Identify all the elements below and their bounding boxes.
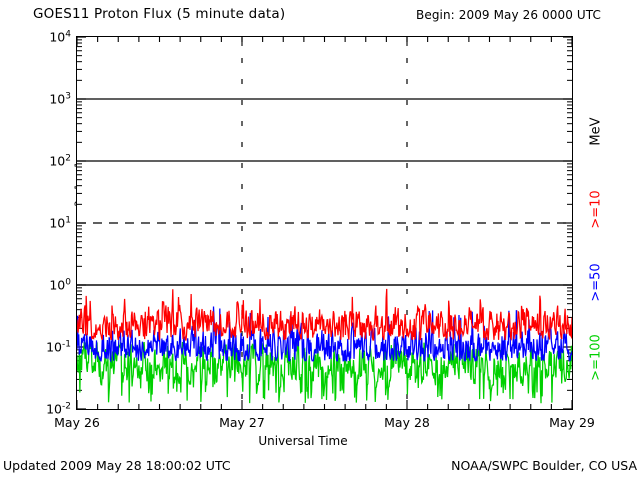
y-tick-exponent: 3 [65,91,71,101]
y-tick-label: 100 [49,277,71,292]
page-title: GOES11 Proton Flux (5 minute data) [33,6,285,22]
updated-timestamp: Updated 2009 May 28 18:00:02 UTC [3,458,231,473]
x-tick-label: May 27 [219,415,265,430]
y-tick-mantissa: 10 [49,92,65,107]
legend-units-mev: MeV [589,102,604,162]
source-attribution: NOAA/SWPC Boulder, CO USA [451,458,637,473]
y-tick-mantissa: 10 [49,216,65,231]
y-tick-label: 102 [49,153,71,168]
y-tick-label: 103 [49,91,71,106]
y-axis-tick-labels: 10410310210110010-110-2 [22,36,71,410]
y-tick-mantissa: 10 [49,278,65,293]
y-tick-mantissa: 10 [49,154,65,169]
x-tick-label: May 28 [384,415,430,430]
legend-item-ge50: >=50 [589,249,604,317]
y-tick-mantissa: 10 [46,340,62,355]
y-tick-exponent: 1 [65,215,71,225]
y-tick-exponent: -1 [62,339,71,349]
y-tick-label: 101 [49,215,71,230]
x-tick-label: May 29 [549,415,595,430]
x-tick-label: May 26 [54,415,100,430]
x-axis-title-text: Universal Time [258,434,347,448]
legend-item-ge10: >=10 [589,176,604,244]
series-ge50 [77,307,572,361]
y-tick-mantissa: 10 [49,30,65,45]
x-axis-tick-labels: May 26May 27May 28May 29 [0,415,640,433]
begin-time-label: Begin: 2009 May 26 0000 UTC [416,8,601,22]
y-tick-exponent: 4 [65,29,71,39]
y-tick-label: 104 [49,29,71,44]
y-tick-exponent: 0 [65,277,71,287]
plot-area [76,36,573,410]
y-tick-label: 10-1 [46,339,71,354]
series-ge10 [77,289,572,340]
legend-item-ge100: >=100 [589,319,604,397]
x-axis-title: Universal Time [0,434,640,448]
y-tick-exponent: 2 [65,153,71,163]
plot-canvas [77,37,572,409]
y-tick-exponent: -2 [62,401,71,411]
